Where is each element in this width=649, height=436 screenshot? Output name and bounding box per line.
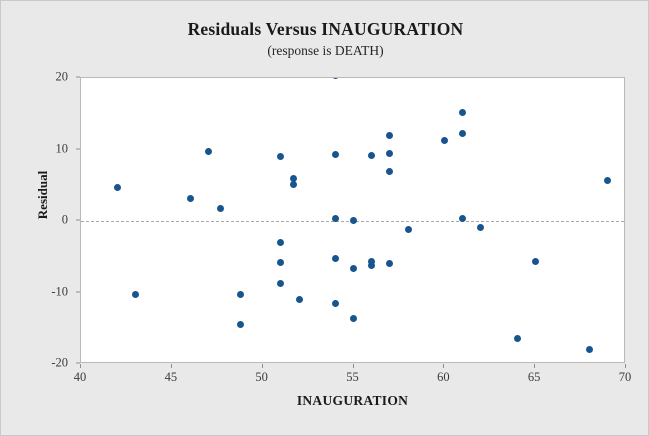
scatter-point <box>237 321 244 328</box>
y-tick-label: 20 <box>34 70 68 85</box>
scatter-point <box>217 205 224 212</box>
x-axis-label: INAUGURATION <box>80 393 625 409</box>
scatter-point <box>132 291 139 298</box>
y-tick-label: -20 <box>34 356 68 371</box>
scatter-point <box>350 217 357 224</box>
y-tick-label: 10 <box>34 141 68 156</box>
scatter-point <box>277 280 284 287</box>
x-tick-label: 65 <box>514 370 554 385</box>
x-tick-mark <box>353 364 354 368</box>
chart-subtitle: (response is DEATH) <box>1 43 649 59</box>
plot-area <box>80 77 625 363</box>
x-tick-label: 40 <box>60 370 100 385</box>
scatter-point <box>459 130 466 137</box>
scatter-point <box>405 226 412 233</box>
scatter-point <box>514 335 521 342</box>
scatter-point <box>477 224 484 231</box>
chart-title: Residuals Versus INAUGURATION <box>1 19 649 40</box>
scatter-point <box>368 152 375 159</box>
scatter-point <box>350 315 357 322</box>
scatter-point <box>368 258 375 265</box>
x-tick-label: 70 <box>605 370 645 385</box>
scatter-point <box>277 153 284 160</box>
x-tick-label: 55 <box>333 370 373 385</box>
scatter-point <box>604 177 611 184</box>
scatter-point <box>205 148 212 155</box>
scatter-point <box>237 291 244 298</box>
scatter-point <box>386 132 393 139</box>
scatter-point <box>332 215 339 222</box>
scatter-point <box>441 137 448 144</box>
y-tick-mark <box>76 148 80 149</box>
scatter-point <box>187 195 194 202</box>
x-tick-label: 60 <box>423 370 463 385</box>
x-tick-mark <box>443 364 444 368</box>
scatter-point <box>386 168 393 175</box>
y-tick-mark <box>76 77 80 78</box>
scatter-point <box>586 346 593 353</box>
scatter-point <box>277 239 284 246</box>
scatter-point <box>386 150 393 157</box>
scatter-point <box>350 265 357 272</box>
scatter-point <box>459 215 466 222</box>
scatter-point <box>332 151 339 158</box>
scatter-point <box>290 181 297 188</box>
scatter-point <box>277 259 284 266</box>
y-tick-label: -10 <box>34 284 68 299</box>
scatter-point <box>532 258 539 265</box>
y-tick-mark <box>76 291 80 292</box>
y-tick-mark <box>76 220 80 221</box>
scatter-point <box>386 260 393 267</box>
scatter-point <box>332 255 339 262</box>
x-tick-mark <box>625 364 626 368</box>
x-tick-mark <box>80 364 81 368</box>
x-tick-mark <box>534 364 535 368</box>
scatter-point <box>114 184 121 191</box>
x-tick-mark <box>171 364 172 368</box>
scatter-point <box>332 77 339 79</box>
residual-plot-figure: Residuals Versus INAUGURATION (response … <box>0 0 649 436</box>
x-tick-label: 45 <box>151 370 191 385</box>
scatter-point <box>296 296 303 303</box>
x-tick-label: 50 <box>242 370 282 385</box>
x-tick-mark <box>262 364 263 368</box>
scatter-point <box>459 109 466 116</box>
y-tick-label: 0 <box>34 213 68 228</box>
scatter-point <box>332 300 339 307</box>
